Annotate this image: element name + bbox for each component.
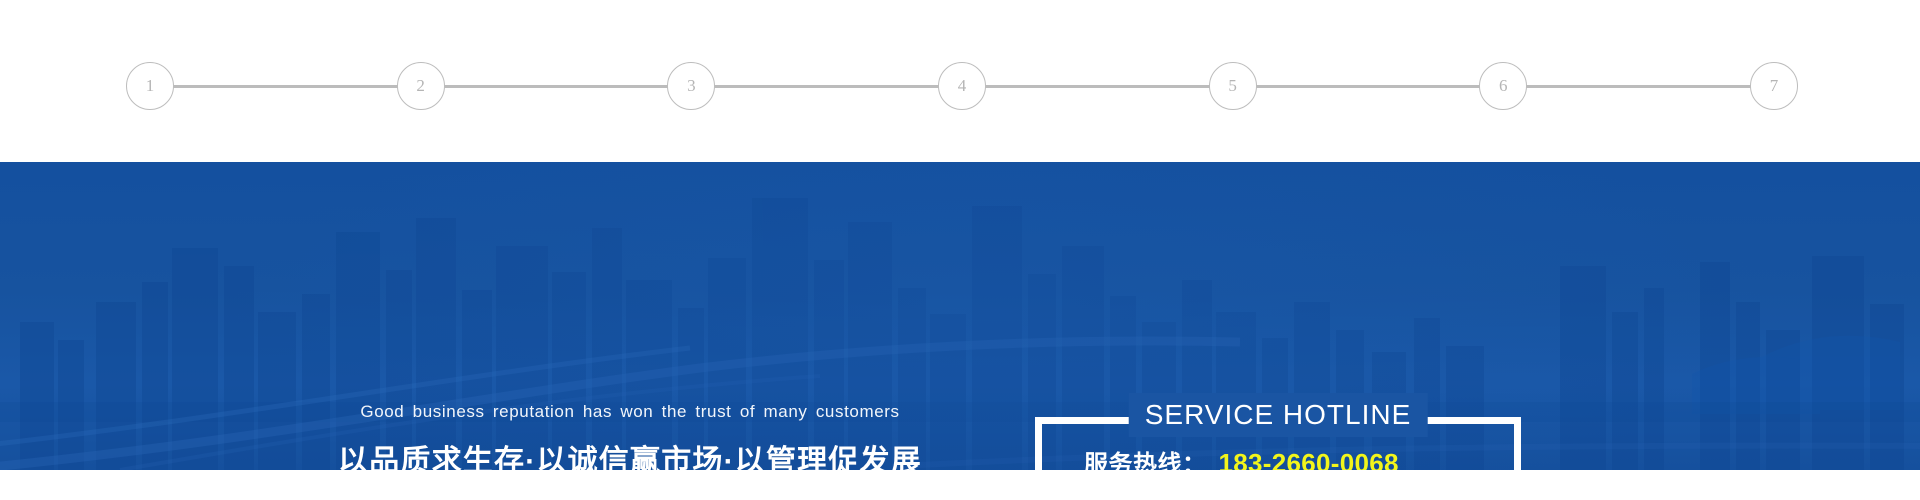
pagination-step-3[interactable]: 3 xyxy=(667,62,715,110)
service-hotline-title: SERVICE HOTLINE xyxy=(1129,393,1428,437)
pagination-step-7[interactable]: 7 xyxy=(1750,62,1798,110)
pagination-dot-5[interactable]: 5 xyxy=(1209,62,1257,110)
slogan-block: Good business reputation has won the tru… xyxy=(320,402,940,470)
pagination-dot-1[interactable]: 1 xyxy=(126,62,174,110)
service-hotline-numbers: 服务热线： 183-2660-0068 0551-63749777 xyxy=(1042,444,1514,470)
pagination-dot-2[interactable]: 2 xyxy=(397,62,445,110)
pagination-step-2[interactable]: 2 xyxy=(397,62,445,110)
page-root: 1 2 3 4 5 6 7 xyxy=(0,0,1920,500)
hotline-phone-primary[interactable]: 183-2660-0068 xyxy=(1219,448,1399,470)
pagination-step-1[interactable]: 1 xyxy=(126,62,174,110)
hotline-label: 服务热线： xyxy=(1084,444,1207,470)
slogan-english: Good business reputation has won the tru… xyxy=(320,402,940,422)
service-hotline-box: SERVICE HOTLINE 服务热线： 183-2660-0068 0551… xyxy=(1035,417,1521,470)
pagination-dot-4[interactable]: 4 xyxy=(938,62,986,110)
promo-banner: Good business reputation has won the tru… xyxy=(0,162,1920,470)
pagination-step-5[interactable]: 5 xyxy=(1209,62,1257,110)
pagination-dot-6[interactable]: 6 xyxy=(1479,62,1527,110)
pagination-step-4[interactable]: 4 xyxy=(938,62,986,110)
pagination-dot-3[interactable]: 3 xyxy=(667,62,715,110)
slogan-headline: 以品质求生存·以诚信赢市场·以管理促发展 xyxy=(320,436,940,470)
hotline-row-primary: 服务热线： 183-2660-0068 xyxy=(1084,444,1496,470)
pagination-step-6[interactable]: 6 xyxy=(1479,62,1527,110)
banner-vignette xyxy=(0,162,1920,470)
pagination-dot-7[interactable]: 7 xyxy=(1750,62,1798,110)
pagination-bar: 1 2 3 4 5 6 7 xyxy=(0,0,1920,162)
